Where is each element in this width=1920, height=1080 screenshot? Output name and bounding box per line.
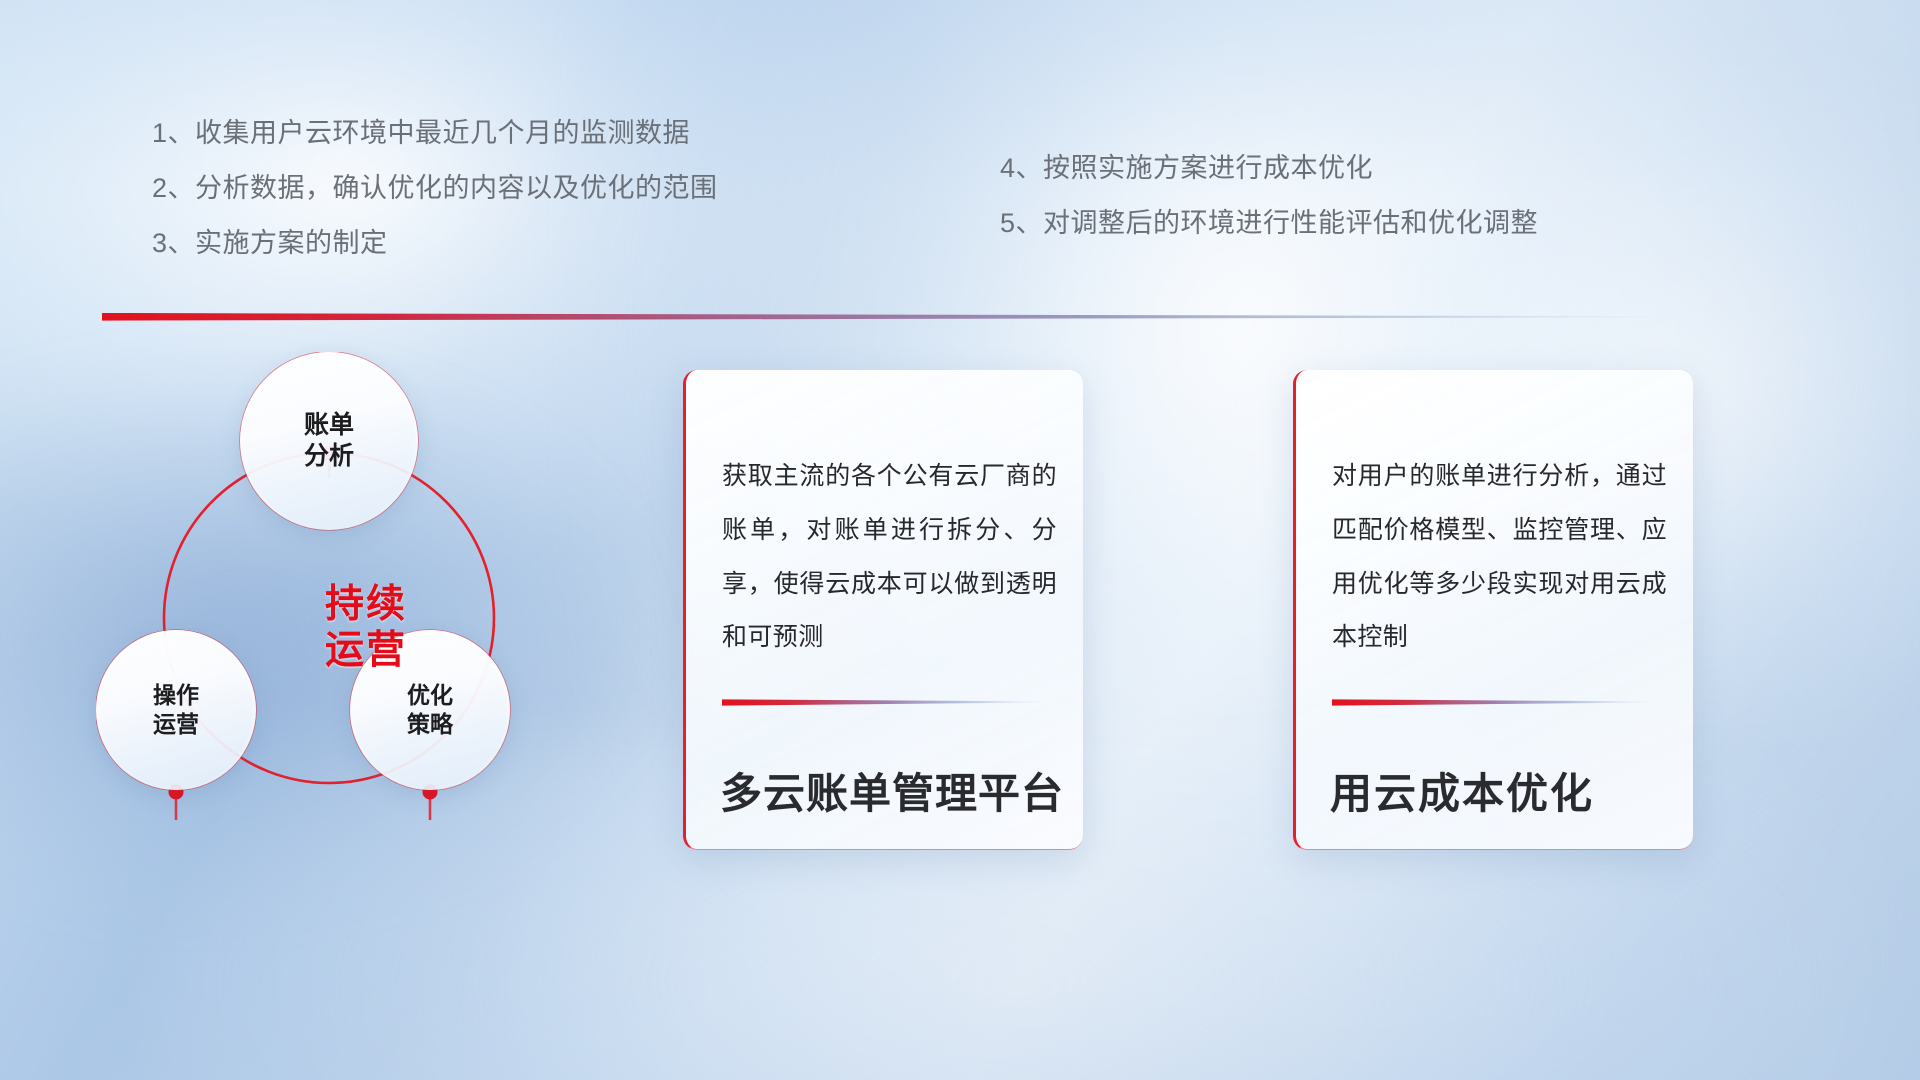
- cycle-node-line2: 分析: [304, 442, 354, 470]
- cycle-center-line1: 持续: [325, 583, 407, 626]
- step-item-5: 5、对调整后的环境进行性能评估和优化调整: [1000, 210, 1538, 237]
- cycle-node-line1: 账单: [304, 411, 354, 439]
- feature-card-divider: [1332, 698, 1662, 706]
- cycle-node-operations-label: 操作 运营: [153, 681, 199, 739]
- feature-card-multicloud-billing[interactable]: 获取主流的各个公有云厂商的账单，对账单进行拆分、分享，使得云成本可以做到透明和可…: [683, 370, 1083, 850]
- cycle-node-line1: 操作: [153, 682, 199, 708]
- cycle-diagram: 账单 分析 操作 运营 优化 策略 持续 运营: [96, 352, 636, 952]
- step-list-right: 4、按照实施方案进行成本优化 5、对调整后的环境进行性能评估和优化调整: [1000, 155, 1538, 237]
- cycle-node-bill-analysis[interactable]: 账单 分析: [240, 352, 418, 530]
- cycle-node-optimization-strategy-label: 优化 策略: [407, 681, 453, 739]
- cycle-node-line2: 策略: [407, 711, 453, 737]
- step-item-3: 3、实施方案的制定: [152, 230, 718, 257]
- feature-card-title: 多云账单管理平台: [720, 760, 1063, 821]
- cycle-node-bill-analysis-label: 账单 分析: [304, 410, 354, 473]
- step-list-left: 1、收集用户云环境中最近几个月的监测数据 2、分析数据，确认优化的内容以及优化的…: [152, 120, 718, 257]
- feature-card-title: 用云成本优化: [1330, 760, 1673, 821]
- step-item-1: 1、收集用户云环境中最近几个月的监测数据: [152, 120, 718, 147]
- cycle-node-line2: 运营: [153, 711, 199, 737]
- slide-canvas: 1、收集用户云环境中最近几个月的监测数据 2、分析数据，确认优化的内容以及优化的…: [0, 0, 1920, 1080]
- feature-card-divider: [722, 698, 1052, 706]
- cycle-center-label: 持续 运营: [96, 582, 636, 674]
- step-item-4: 4、按照实施方案进行成本优化: [1000, 155, 1538, 182]
- step-item-2: 2、分析数据，确认优化的内容以及优化的范围: [152, 175, 718, 202]
- cycle-node-line1: 优化: [407, 682, 453, 708]
- feature-card-body: 对用户的账单进行分析，通过匹配价格模型、监控管理、应用优化等多少段实现对用云成本…: [1332, 450, 1667, 665]
- feature-card-cloud-cost-optimization[interactable]: 对用户的账单进行分析，通过匹配价格模型、监控管理、应用优化等多少段实现对用云成本…: [1293, 370, 1693, 850]
- feature-card-body: 获取主流的各个公有云厂商的账单，对账单进行拆分、分享，使得云成本可以做到透明和可…: [722, 450, 1057, 665]
- cycle-center-line2: 运营: [325, 629, 407, 672]
